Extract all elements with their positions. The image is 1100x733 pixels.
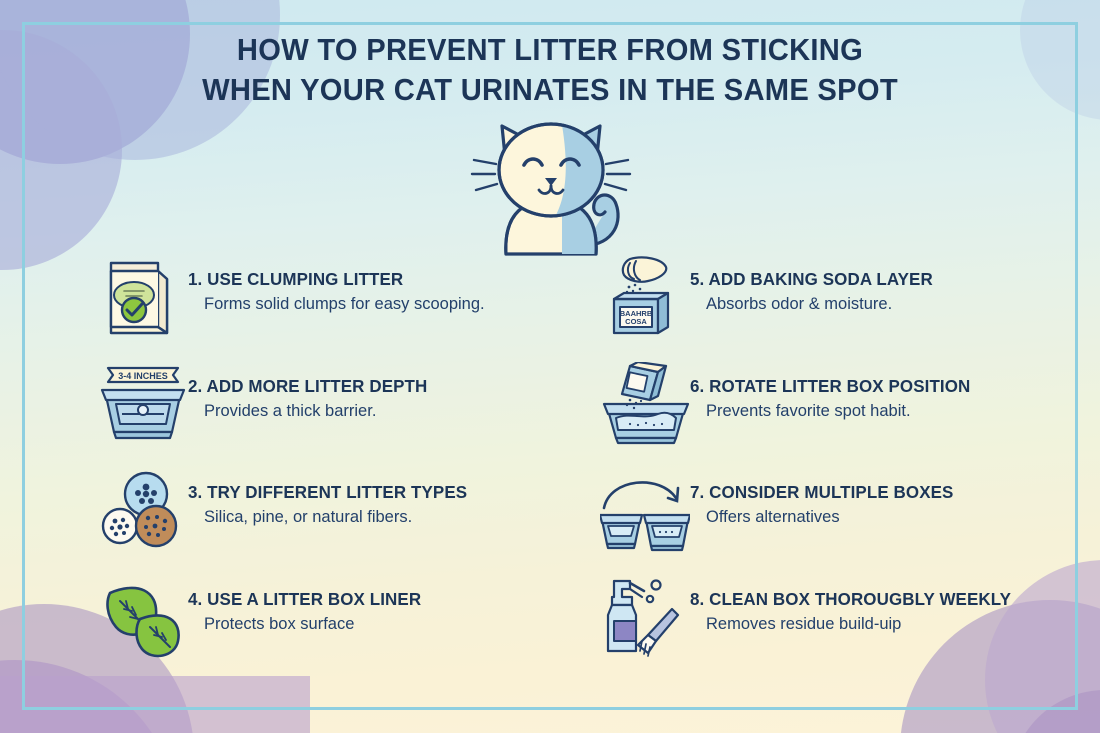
tip-item-1: 1. USE CLUMPING LITTER Forms solid clump…: [98, 255, 538, 339]
tip-description-2: Provides a thick barrier.: [204, 402, 435, 421]
tip-heading-6: 6. ROTATE LITTER BOX POSITION: [690, 376, 970, 397]
tip-heading-8: 8. CLEAN BOX THOROUGBLY WEEKLY: [690, 589, 1011, 610]
tip-description-5: Absorbs odor & moisture.: [706, 295, 940, 314]
tip-text-8: 8. CLEAN BOX THOROUGBLY WEEKLY Removes r…: [690, 575, 1021, 634]
tip-heading-3: 3. TRY DIFFERENT LITTER TYPES: [188, 482, 467, 503]
tip-text-4: 4. USE A LITTER BOX LINER Protects box s…: [188, 575, 428, 634]
tip-description-8: Removes residue build-uip: [706, 615, 1021, 634]
tip-description-3: Silica, pine, or natural fibers.: [204, 508, 476, 527]
tip-description-7: Offers alternatives: [706, 508, 962, 527]
tip-item-5: BAAHRB COSA 5. ADD BAKING SODA LAYER Abs…: [600, 255, 1070, 339]
tip-description-6: Prevents favorite spot habit.: [706, 402, 979, 421]
tip-item-6: 6. ROTATE LITTER BOX POSITION Prevents f…: [600, 362, 1070, 446]
pour-box-into-tray-icon: [600, 362, 690, 446]
infographic-canvas: HOW TO PREVENT LITTER FROM STICKING WHEN…: [0, 0, 1100, 733]
tip-item-2: 3-4 INCHES 2. ADD MORE LITTER DEPTH Prov…: [98, 362, 538, 446]
tip-heading-5: 5. ADD BAKING SODA LAYER: [690, 269, 933, 290]
tip-text-7: 7. CONSIDER MULTIPLE BOXES Offers altern…: [690, 468, 962, 527]
two-litter-boxes-arrow-icon: [600, 468, 690, 552]
tip-icon-label-5-line2: COSA: [625, 317, 647, 326]
litter-granules-icon: [98, 468, 188, 552]
page-title: HOW TO PREVENT LITTER FROM STICKING WHEN…: [33, 30, 1067, 111]
tip-heading-7: 7. CONSIDER MULTIPLE BOXES: [690, 482, 953, 503]
tip-text-2: 2. ADD MORE LITTER DEPTH Provides a thic…: [188, 362, 435, 421]
tip-text-1: 1. USE CLUMPING LITTER Forms solid clump…: [188, 255, 485, 314]
tip-description-4: Protects box surface: [204, 615, 428, 634]
tip-description-1: Forms solid clumps for easy scooping.: [204, 295, 485, 314]
tip-heading-1: 1. USE CLUMPING LITTER: [188, 269, 476, 290]
cat-illustration: [466, 108, 636, 256]
spray-bottle-brush-icon: [600, 575, 690, 659]
tip-item-8: 8. CLEAN BOX THOROUGBLY WEEKLY Removes r…: [600, 575, 1070, 659]
tip-text-3: 3. TRY DIFFERENT LITTER TYPES Silica, pi…: [188, 468, 476, 527]
tip-item-7: 7. CONSIDER MULTIPLE BOXES Offers altern…: [600, 468, 1070, 552]
tip-text-5: 5. ADD BAKING SODA LAYER Absorbs odor & …: [690, 255, 940, 314]
tip-heading-4: 4. USE A LITTER BOX LINER: [188, 589, 421, 610]
litter-depth-tray-icon: 3-4 INCHES: [98, 362, 188, 446]
tip-item-3: 3. TRY DIFFERENT LITTER TYPES Silica, pi…: [98, 468, 538, 552]
tip-icon-label-2: 3-4 INCHES: [118, 371, 168, 381]
tip-heading-2: 2. ADD MORE LITTER DEPTH: [188, 376, 427, 397]
litter-bag-icon: [98, 255, 188, 339]
tip-item-4: 4. USE A LITTER BOX LINER Protects box s…: [98, 575, 538, 659]
tip-text-6: 6. ROTATE LITTER BOX POSITION Prevents f…: [690, 362, 979, 421]
baking-soda-hand-icon: BAAHRB COSA: [600, 255, 690, 339]
leaves-icon: [98, 575, 188, 659]
